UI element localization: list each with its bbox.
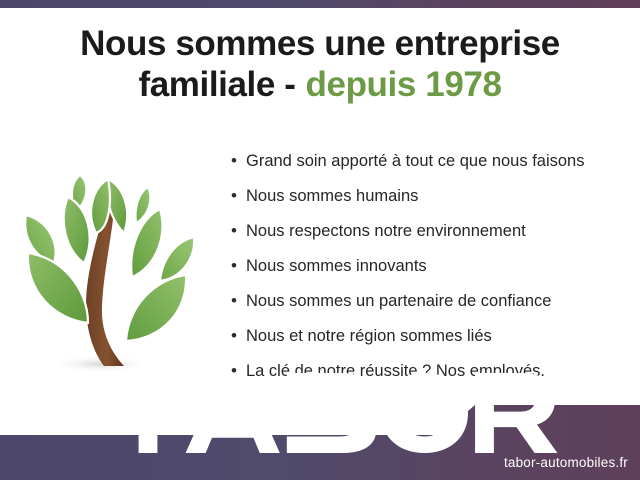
headline-line-1: Nous sommes une entreprise bbox=[0, 24, 640, 65]
list-item-label: Nous sommes un partenaire de confiance bbox=[246, 290, 551, 312]
page-title: Nous sommes une entreprise familiale -de… bbox=[0, 24, 640, 105]
bullet-icon: • bbox=[231, 220, 246, 242]
list-item: • Nous et notre région sommes liés bbox=[231, 325, 631, 360]
leaf-mid-left bbox=[64, 197, 90, 263]
list-item-label: Grand soin apporté à tout ce que nous fa… bbox=[246, 150, 584, 172]
list-item: • Nous sommes innovants bbox=[231, 255, 631, 290]
headline-line-2: familiale -depuis 1978 bbox=[0, 65, 640, 106]
footer-band: tabor-automobiles.fr bbox=[0, 400, 640, 480]
headline-line-2-accent: depuis 1978 bbox=[306, 65, 502, 104]
headline-line-2-dark: familiale - bbox=[138, 65, 295, 104]
bullet-icon: • bbox=[231, 150, 246, 172]
bullet-icon: • bbox=[231, 325, 246, 347]
list-item-label: Nous sommes humains bbox=[246, 185, 418, 207]
logo-wordmark bbox=[0, 373, 628, 453]
list-item-label: Nous et notre région sommes liés bbox=[246, 325, 492, 347]
top-accent-bar bbox=[0, 0, 640, 8]
list-item-label: Nous respectons notre environnement bbox=[246, 220, 526, 242]
list-item: • Nous sommes humains bbox=[231, 185, 631, 220]
logo-website-url[interactable]: tabor-automobiles.fr bbox=[0, 454, 628, 472]
leaf-bottom-right bbox=[126, 275, 186, 341]
leaf-bottom-left bbox=[28, 253, 88, 323]
tree-illustration bbox=[12, 145, 212, 385]
leaf-far-right bbox=[160, 237, 194, 281]
bullet-icon: • bbox=[231, 185, 246, 207]
list-item: • Nous sommes un partenaire de confiance bbox=[231, 290, 631, 325]
bullet-icon: • bbox=[231, 255, 246, 277]
list-item-label: Nous sommes innovants bbox=[246, 255, 427, 277]
feature-list: • Grand soin apporté à tout ce que nous … bbox=[231, 150, 631, 395]
list-item: • Nous respectons notre environnement bbox=[231, 220, 631, 255]
brand-logo[interactable]: tabor-automobiles.fr bbox=[0, 373, 628, 472]
bullet-icon: • bbox=[231, 290, 246, 312]
slide-canvas: Nous sommes une entreprise familiale -de… bbox=[0, 0, 640, 480]
list-item: • Grand soin apporté à tout ce que nous … bbox=[231, 150, 631, 185]
